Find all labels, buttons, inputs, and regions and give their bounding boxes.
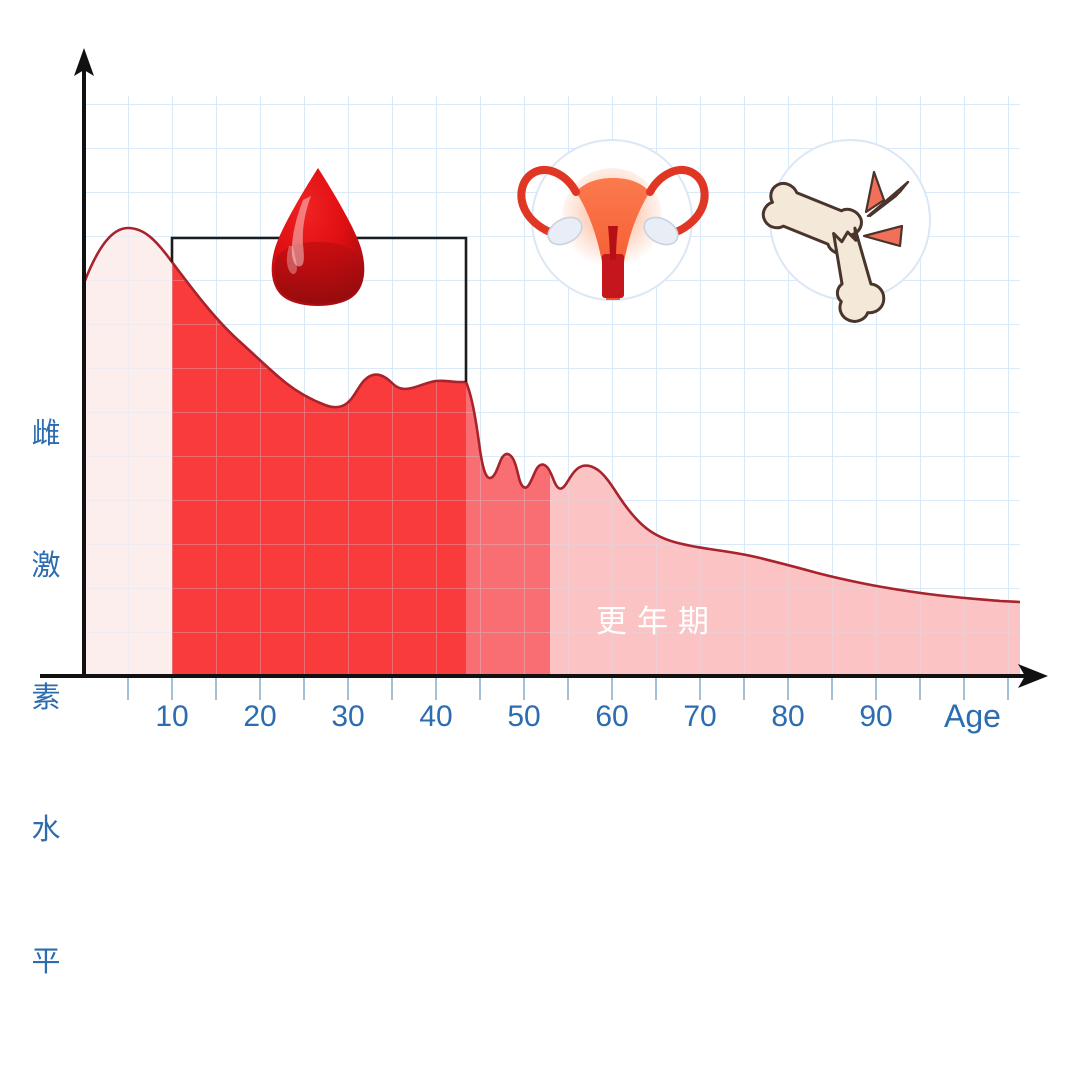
x-tick-label-80: 80	[758, 702, 818, 732]
y-axis-label: 雌 激 素 水 平	[24, 324, 68, 1072]
y-axis-label-char: 素	[24, 676, 68, 720]
x-axis-ticks	[128, 678, 1008, 700]
y-axis-label-char: 雌	[24, 412, 68, 456]
x-tick-label-60: 60	[582, 702, 642, 732]
x-axis-label: Age	[944, 700, 1001, 732]
x-tick-label-40: 40	[406, 702, 466, 732]
estrogen-level-chart: 雌 激 素 水 平 10 20 30 40 50 60 70 80 90 Age…	[0, 0, 1080, 764]
x-tick-label-20: 20	[230, 702, 290, 732]
menopause-label: 更年期	[596, 604, 719, 640]
x-tick-label-70: 70	[670, 702, 730, 732]
y-axis-label-char: 水	[24, 808, 68, 852]
y-axis-label-char: 激	[24, 544, 68, 588]
x-tick-label-10: 10	[142, 702, 202, 732]
x-tick-label-50: 50	[494, 702, 554, 732]
x-tick-label-90: 90	[846, 702, 906, 732]
chart-figure	[0, 0, 1080, 764]
y-axis-label-char: 平	[24, 940, 68, 984]
x-tick-label-30: 30	[318, 702, 378, 732]
